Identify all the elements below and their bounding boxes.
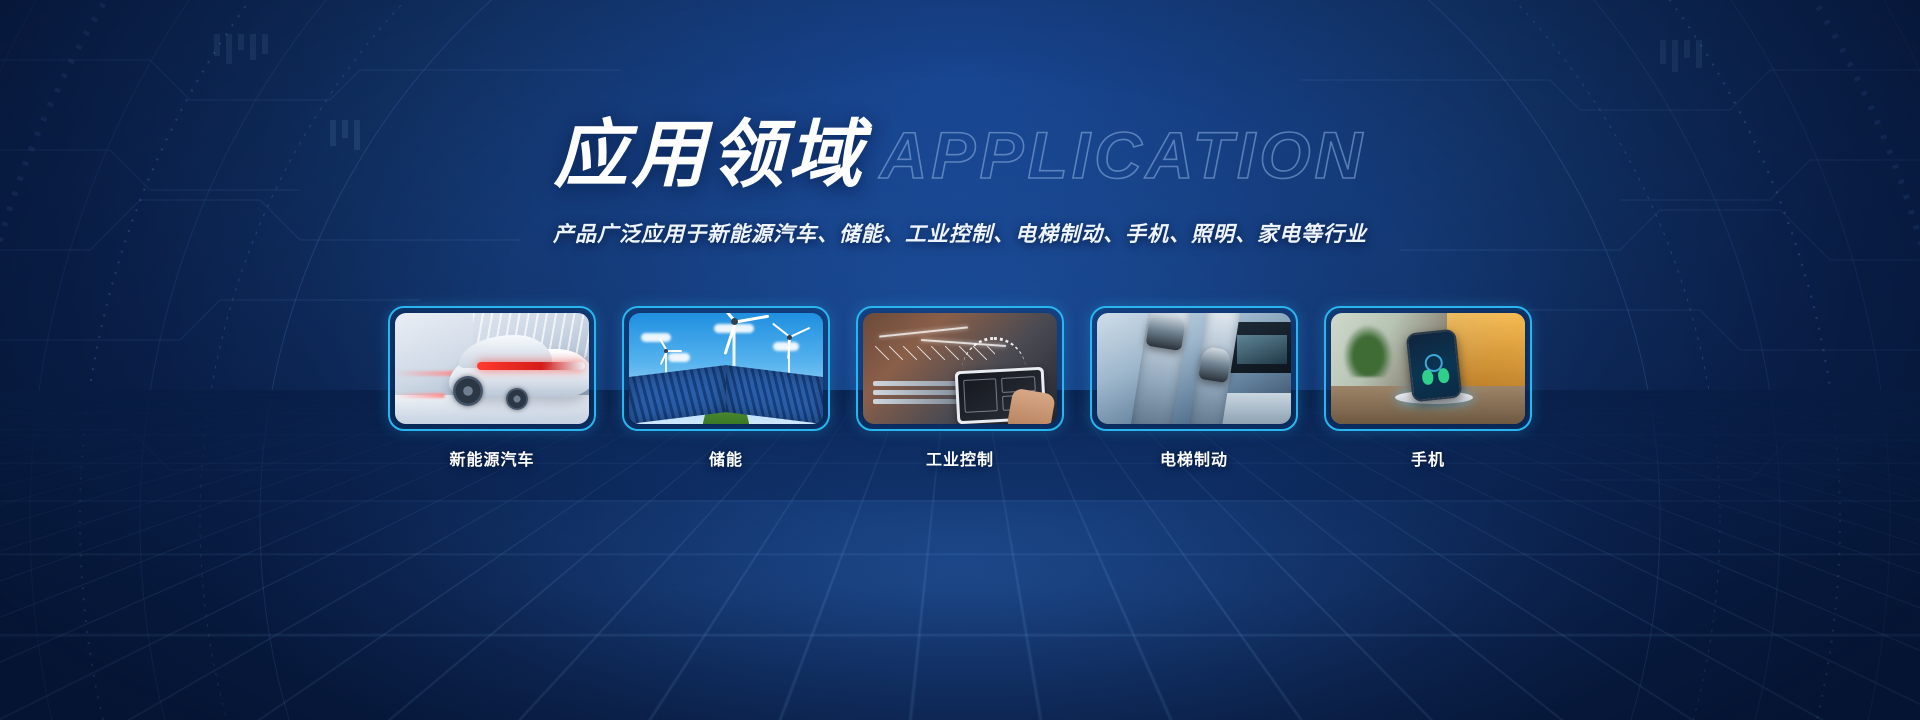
application-card-mobile-phone[interactable]: 手机: [1324, 306, 1532, 470]
elevator-shaft-photo: [1097, 313, 1291, 424]
card-frame[interactable]: [1090, 306, 1298, 431]
title-row: 应用领域 APPLICATION: [554, 118, 1366, 192]
card-frame[interactable]: [388, 306, 596, 431]
page-subtitle: 产品广泛应用于新能源汽车、储能、工业控制、电梯制动、手机、照明、家电等行业: [0, 218, 1920, 248]
card-label: 储能: [622, 446, 830, 470]
card-frame[interactable]: [1324, 306, 1532, 431]
new-energy-vehicle-photo: [395, 313, 589, 424]
card-label: 手机: [1324, 446, 1532, 470]
banner-stage: 应用领域 APPLICATION 产品广泛应用于新能源汽车、储能、工业控制、电梯…: [0, 0, 1920, 720]
smartphone-wireless-charger-photo: [1331, 313, 1525, 424]
card-frame[interactable]: [622, 306, 830, 431]
card-label: 新能源汽车: [388, 446, 596, 470]
page-title-english: APPLICATION: [880, 122, 1366, 188]
application-card-list: 新能源汽车: [0, 306, 1920, 470]
page-title: 应用领域: [554, 118, 866, 192]
application-card-new-energy-vehicle[interactable]: 新能源汽车: [388, 306, 596, 470]
card-label: 工业控制: [856, 446, 1064, 470]
card-frame[interactable]: [856, 306, 1064, 431]
wind-solar-energy-storage-photo: [629, 313, 823, 424]
industrial-control-tablet-photo: [863, 313, 1057, 424]
card-label: 电梯制动: [1090, 446, 1298, 470]
application-card-elevator-braking[interactable]: 电梯制动: [1090, 306, 1298, 470]
application-card-energy-storage[interactable]: 储能: [622, 306, 830, 470]
application-card-industrial-control[interactable]: 工业控制: [856, 306, 1064, 470]
banner-heading: 应用领域 APPLICATION 产品广泛应用于新能源汽车、储能、工业控制、电梯…: [0, 118, 1920, 248]
